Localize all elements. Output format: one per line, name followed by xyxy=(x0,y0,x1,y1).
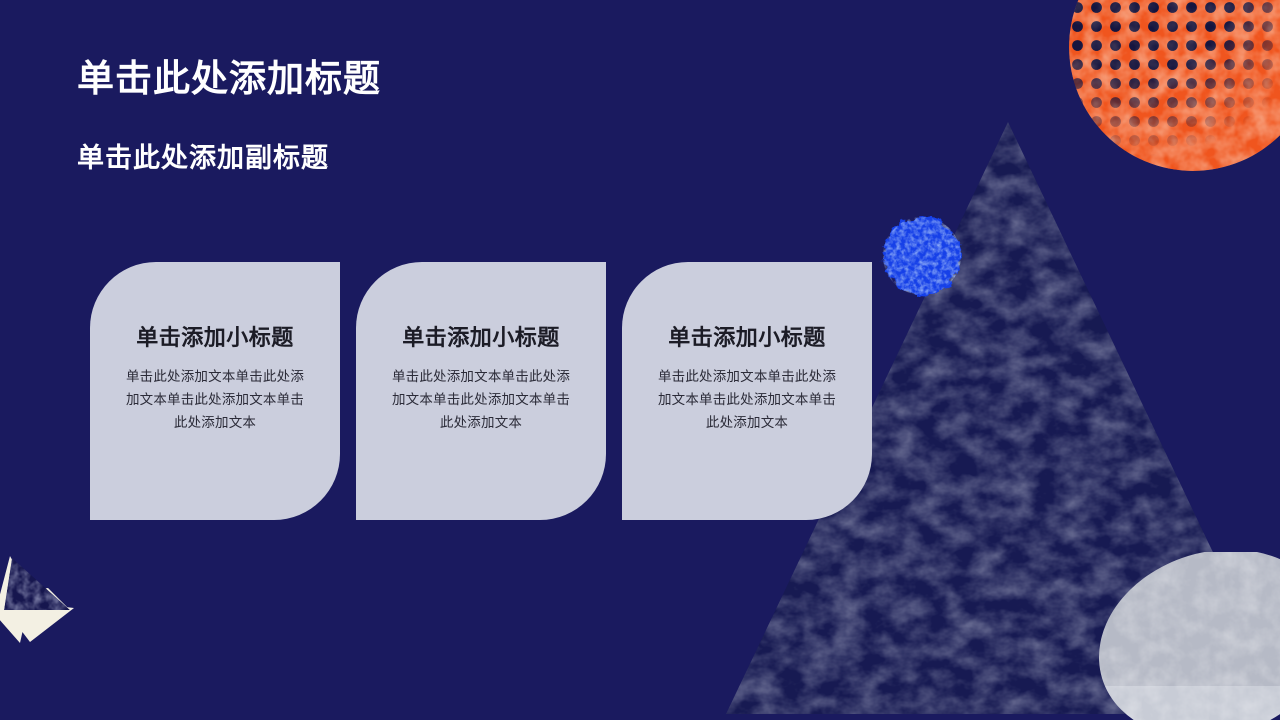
page-subtitle[interactable]: 单击此处添加副标题 xyxy=(77,141,381,175)
presentation-slide: 单击此处添加标题 单击此处添加副标题 单击添加小标题 单击此处添加文本单击此处添… xyxy=(0,0,1280,720)
content-card[interactable]: 单击添加小标题 单击此处添加文本单击此处添加文本单击此处添加文本单击此处添加文本 xyxy=(90,262,340,520)
content-card[interactable]: 单击添加小标题 单击此处添加文本单击此处添加文本单击此处添加文本单击此处添加文本 xyxy=(356,262,606,520)
card-title[interactable]: 单击添加小标题 xyxy=(90,324,340,352)
card-body[interactable]: 单击此处添加文本单击此处添加文本单击此处添加文本单击此处添加文本 xyxy=(654,365,840,434)
card-body[interactable]: 单击此处添加文本单击此处添加文本单击此处添加文本单击此处添加文本 xyxy=(388,365,574,434)
page-title[interactable]: 单击此处添加标题 xyxy=(77,56,381,102)
orange-halftone-circle-decoration xyxy=(1068,0,1280,172)
title-block: 单击此处添加标题 单击此处添加副标题 xyxy=(77,56,381,175)
cards-row: 单击添加小标题 单击此处添加文本单击此处添加文本单击此处添加文本单击此处添加文本… xyxy=(90,262,872,520)
card-title[interactable]: 单击添加小标题 xyxy=(356,324,606,352)
grey-ellipse-decoration xyxy=(1080,552,1280,720)
card-title[interactable]: 单击添加小标题 xyxy=(622,324,872,352)
content-card[interactable]: 单击添加小标题 单击此处添加文本单击此处添加文本单击此处添加文本单击此处添加文本 xyxy=(622,262,872,520)
card-body[interactable]: 单击此处添加文本单击此处添加文本单击此处添加文本单击此处添加文本 xyxy=(122,365,308,434)
cream-arrow-decoration xyxy=(0,548,86,654)
blue-grunge-dot-decoration xyxy=(874,207,970,305)
